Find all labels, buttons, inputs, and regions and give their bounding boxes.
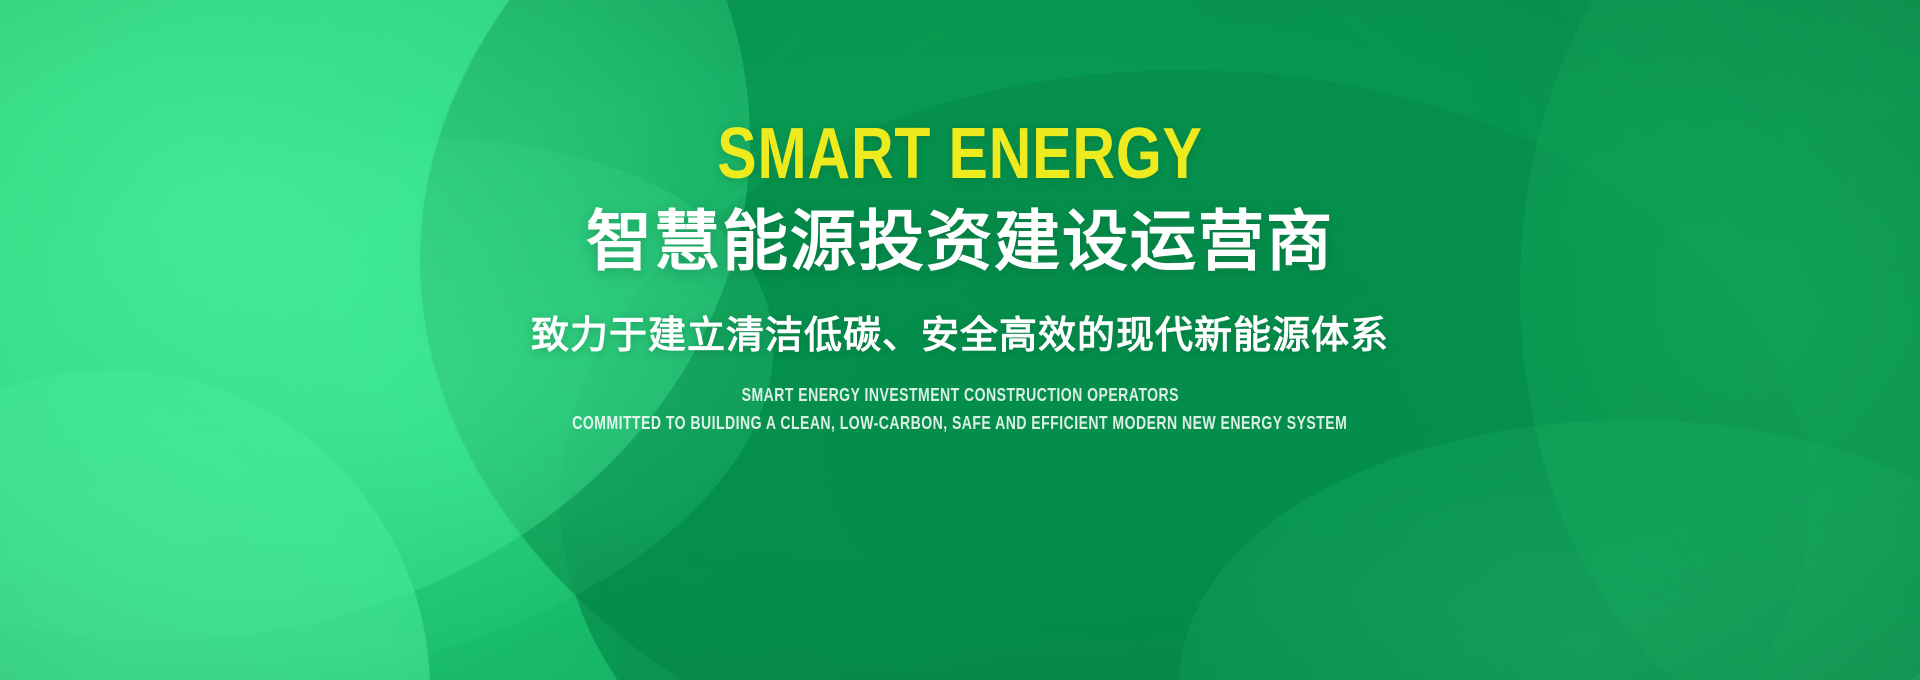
subheadline-chinese: 致力于建立清洁低碳、安全高效的现代新能源体系 [531,315,1389,357]
subtitle-english-line-2: COMMITTED TO BUILDING A CLEAN, LOW-CARBO… [572,411,1347,437]
headline-chinese: 智慧能源投资建设运营商 [586,206,1334,277]
headline-english: SMART ENERGY [717,118,1202,190]
smart-energy-hero-banner: SMART ENERGY 智慧能源投资建设运营商 致力于建立清洁低碳、安全高效的… [0,0,1920,680]
subtitle-english-line-1: SMART ENERGY INVESTMENT CONSTRUCTION OPE… [741,383,1178,409]
hero-content: SMART ENERGY 智慧能源投资建设运营商 致力于建立清洁低碳、安全高效的… [0,0,1920,680]
